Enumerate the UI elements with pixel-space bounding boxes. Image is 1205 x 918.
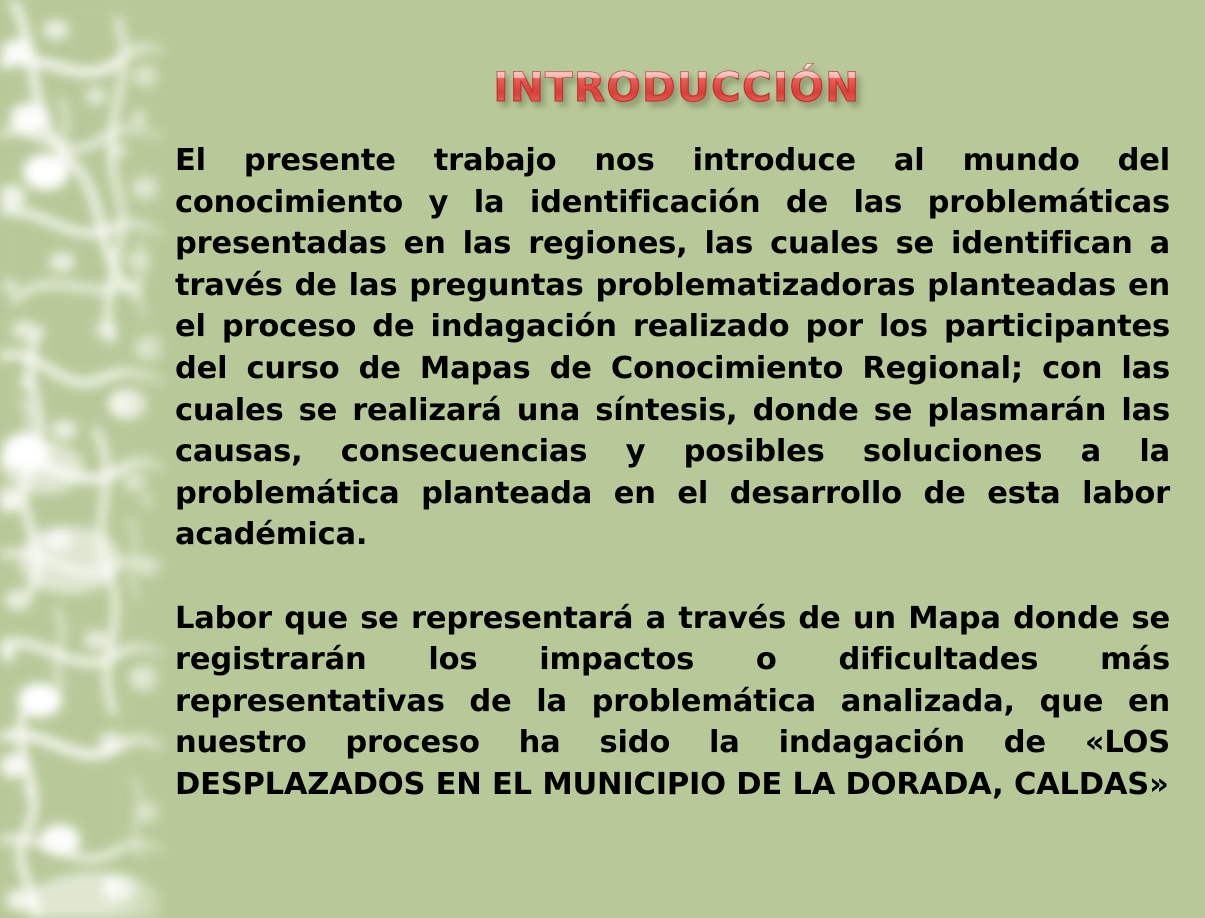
page-title: INTRODUCCIÓN INTRODUCCIÓN (172, 48, 1182, 120)
floral-damask-border (0, 0, 172, 918)
paragraph-intro: El presente trabajo nos introduce al mun… (175, 140, 1170, 556)
paragraph-labor: Labor que se representará a través de un… (175, 598, 1170, 806)
slide-title-container: INTRODUCCIÓN INTRODUCCIÓN (172, 48, 1182, 120)
title-text-highlight: INTRODUCCIÓN (494, 63, 861, 111)
floral-damask-pattern-icon (0, 0, 172, 918)
title-gloss-overlay: INTRODUCCIÓN (494, 63, 861, 111)
slide-body-text: El presente trabajo nos introduce al mun… (175, 140, 1170, 806)
paragraph-labor-text: Labor que se representará a través de un… (175, 598, 1170, 806)
presentation-slide: INTRODUCCIÓN INTRODUCCIÓN El presente tr… (0, 0, 1205, 918)
title-text: INTRODUCCIÓN (494, 63, 861, 111)
paragraph-intro-text: El presente trabajo nos introduce al mun… (175, 140, 1170, 556)
